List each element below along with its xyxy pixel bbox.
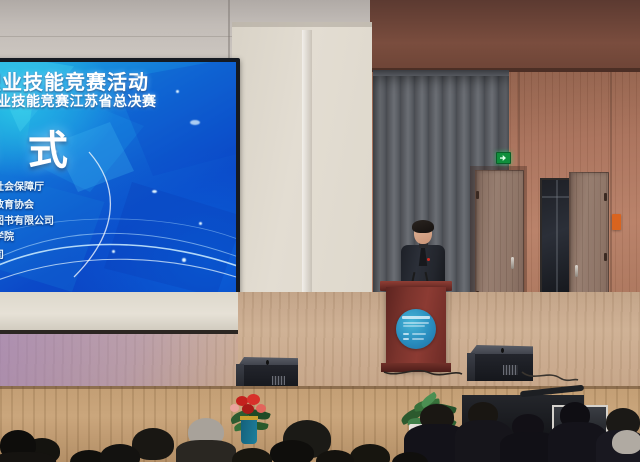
monitor-cable — [520, 366, 580, 384]
screen-title-line-2: 用职业技能竞赛江苏省总决赛 — [0, 91, 157, 111]
ceiling-seam-vertical — [228, 0, 230, 62]
curtain-valance — [370, 0, 640, 72]
audience-shoulders — [0, 452, 56, 462]
presenter-hair — [412, 220, 434, 233]
stage-monitor-left — [236, 357, 300, 389]
audience-head — [270, 440, 314, 462]
wall-skirt-base-edge — [0, 330, 238, 334]
beige-wall-top-edge — [232, 22, 372, 27]
podium-cable — [380, 356, 464, 378]
audience-head-gray — [612, 430, 640, 454]
flower-vase — [241, 418, 257, 444]
vase-gold-band — [240, 416, 258, 420]
emergency-exit-icon — [496, 152, 511, 164]
screen-org-line: 有限公司 — [0, 246, 4, 261]
lapel-pin — [427, 258, 430, 261]
curtain-rail — [373, 70, 509, 76]
audience-shoulders — [176, 440, 236, 462]
auditorium-scene: 兵职业技能竞赛活动 用职业技能竞赛江苏省总决赛 幕 式 资源和社会保障厅 年科技… — [0, 0, 640, 462]
screen-org-line: 年科技教育协会 — [0, 196, 34, 211]
screen-org-line: 业技术学院 — [0, 228, 14, 243]
screen-headline: 幕 式 — [0, 118, 78, 176]
podium-emblem — [396, 309, 436, 349]
stage-led-screen: 兵职业技能竞赛活动 用职业技能竞赛江苏省总决赛 幕 式 资源和社会保障厅 年科技… — [0, 62, 236, 294]
wall-placard — [612, 214, 621, 230]
screen-org-line: 资源和社会保障厅 — [0, 178, 44, 193]
beige-wall-seam — [302, 30, 312, 298]
screen-org-line: 业教育图书有限公司 — [0, 212, 54, 227]
wall-skirt-under-screen — [0, 292, 238, 332]
